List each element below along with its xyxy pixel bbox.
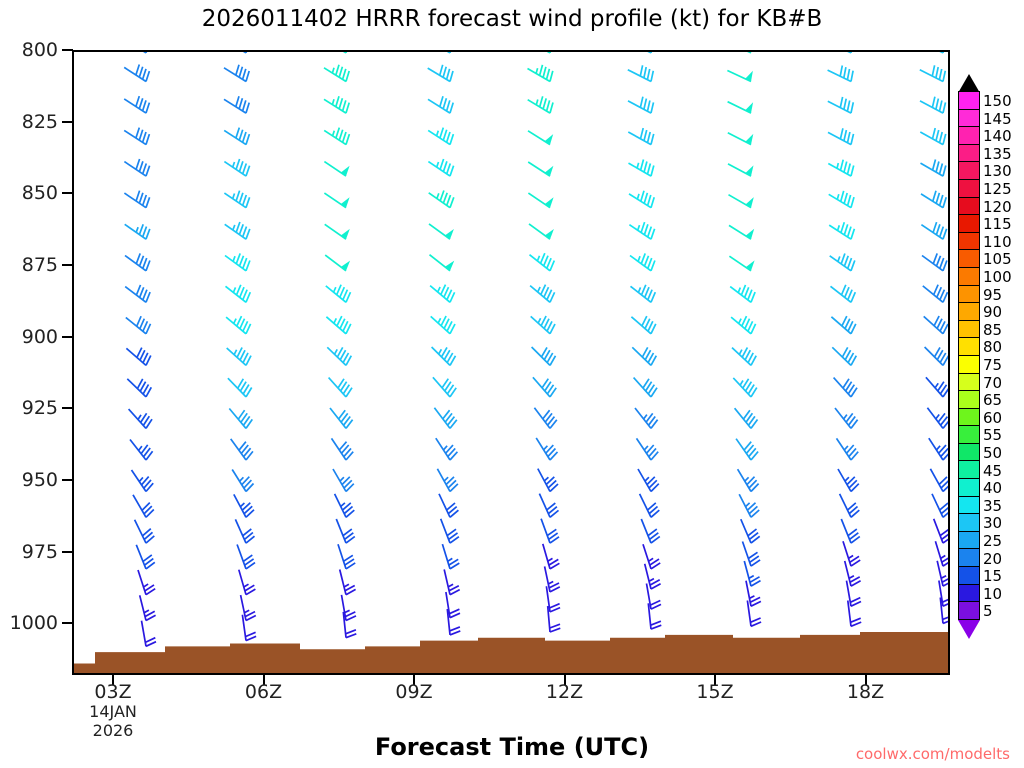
colorbar-tick-label: 25	[983, 534, 1002, 548]
colorbar-swatch	[958, 531, 980, 550]
colorbar-tick-label: 145	[983, 112, 1012, 126]
colorbar-swatch	[958, 478, 980, 497]
y-axis-tick	[62, 479, 73, 481]
y-axis-tick-label: 975	[0, 541, 58, 563]
y-axis-tick-label: 1000	[0, 612, 58, 634]
x-axis-tick-label: 03Z	[73, 681, 153, 703]
colorbar-tick-label: 50	[983, 446, 1002, 460]
y-axis-tick-label: 925	[0, 397, 58, 419]
y-axis-tick-label: 800	[0, 39, 58, 61]
colorbar-tick-label: 135	[983, 147, 1012, 161]
colorbar-tick-label: 100	[983, 270, 1012, 284]
colorbar-tick-label: 105	[983, 252, 1012, 266]
y-axis-tick	[62, 264, 73, 266]
colorbar-tick-label: 60	[983, 411, 1002, 425]
x-axis-tick-label: 18Z	[826, 681, 906, 703]
colorbar-tick-label: 85	[983, 323, 1002, 337]
colorbar-arrow-bottom-icon	[958, 620, 980, 639]
colorbar-tick-label: 75	[983, 358, 1002, 372]
colorbar-swatch	[958, 109, 980, 128]
colorbar-tick-label: 125	[983, 182, 1012, 196]
colorbar-swatch	[958, 584, 980, 603]
colorbar-tick-label: 10	[983, 587, 1002, 601]
colorbar-tick-label: 80	[983, 340, 1002, 354]
colorbar-tick-label: 65	[983, 393, 1002, 407]
wind-profile-chart: 2026011402 HRRR forecast wind profile (k…	[0, 0, 1024, 768]
y-axis-tick-label: 875	[0, 254, 58, 276]
y-axis-tick	[62, 407, 73, 409]
colorbar-swatch	[958, 285, 980, 304]
colorbar-swatch	[958, 513, 980, 532]
y-axis: 8008258508759009259509751000	[0, 0, 1024, 768]
colorbar-swatch	[958, 267, 980, 286]
colorbar-swatch	[958, 144, 980, 163]
colorbar-tick-label: 150	[983, 94, 1012, 108]
colorbar-swatch	[958, 566, 980, 585]
colorbar-swatch	[958, 373, 980, 392]
colorbar-tick-label: 95	[983, 288, 1002, 302]
y-axis-tick	[62, 121, 73, 123]
y-axis-tick	[62, 336, 73, 338]
y-axis-tick-label: 825	[0, 111, 58, 133]
colorbar-tick-label: 130	[983, 164, 1012, 178]
colorbar-tick-label: 45	[983, 464, 1002, 478]
x-axis-tick-label: 15Z	[675, 681, 755, 703]
colorbar-tick-label: 110	[983, 235, 1012, 249]
colorbar-tick-label: 35	[983, 499, 1002, 513]
y-axis-tick	[62, 622, 73, 624]
colorbar-tick-label: 115	[983, 217, 1012, 231]
colorbar-swatch	[958, 214, 980, 233]
colorbar-swatch	[958, 601, 980, 620]
colorbar-tick-label: 5	[983, 604, 993, 618]
colorbar-swatch	[958, 91, 980, 110]
watermark: coolwx.com/modelts	[856, 745, 1010, 763]
colorbar-tick-label: 120	[983, 200, 1012, 214]
colorbar-swatch	[958, 179, 980, 198]
colorbar-tick-label: 40	[983, 481, 1002, 495]
colorbar-swatch	[958, 232, 980, 251]
colorbar-tick-label: 15	[983, 569, 1002, 583]
colorbar-tick-label: 55	[983, 428, 1002, 442]
x-axis-tick-label: 06Z	[224, 681, 304, 703]
colorbar-tick-label: 140	[983, 129, 1012, 143]
y-axis-tick-label: 950	[0, 469, 58, 491]
colorbar-tick-label: 70	[983, 376, 1002, 390]
colorbar-swatch	[958, 425, 980, 444]
colorbar-tick-label: 90	[983, 305, 1002, 319]
colorbar-swatch	[958, 390, 980, 409]
colorbar-swatch	[958, 408, 980, 427]
colorbar	[958, 92, 980, 620]
x-axis-tick-label: 09Z	[374, 681, 454, 703]
colorbar-tick-label: 20	[983, 552, 1002, 566]
colorbar-swatch	[958, 443, 980, 462]
y-axis-tick	[62, 192, 73, 194]
y-axis-tick	[62, 49, 73, 51]
colorbar-tick-label: 30	[983, 516, 1002, 530]
colorbar-swatch	[958, 496, 980, 515]
colorbar-swatch	[958, 320, 980, 339]
x-axis-tick-label: 12Z	[525, 681, 605, 703]
colorbar-swatch	[958, 249, 980, 268]
colorbar-swatch	[958, 548, 980, 567]
colorbar-swatch	[958, 355, 980, 374]
colorbar-swatch	[958, 460, 980, 479]
y-axis-tick	[62, 551, 73, 553]
y-axis-tick-label: 850	[0, 182, 58, 204]
colorbar-swatch	[958, 337, 980, 356]
y-axis-tick-label: 900	[0, 326, 58, 348]
x-axis-datestamp-line: 14JAN	[73, 702, 153, 721]
colorbar-swatch	[958, 302, 980, 321]
colorbar-swatch	[958, 126, 980, 145]
colorbar-swatch	[958, 161, 980, 180]
colorbar-swatch	[958, 197, 980, 216]
